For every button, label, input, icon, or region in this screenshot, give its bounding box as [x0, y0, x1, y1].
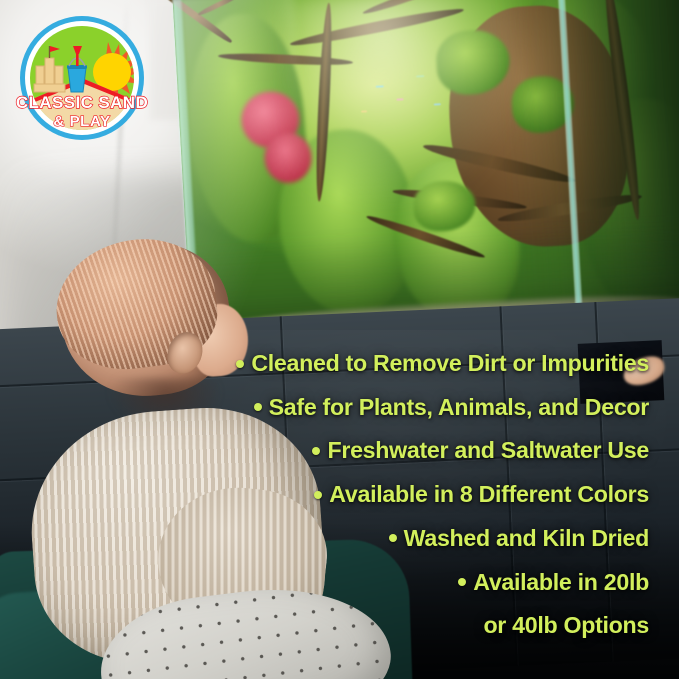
tank-light-glow: [287, 0, 533, 210]
feature-text: Safe for Plants, Animals, and Decor: [269, 396, 649, 419]
feature-item: Cleaned to Remove Dirt or Impurities: [236, 352, 649, 375]
feature-text: Freshwater and Saltwater Use: [327, 439, 649, 462]
feature-item: Available in 8 Different Colors: [314, 483, 649, 506]
feature-text: Cleaned to Remove Dirt or Impurities: [251, 352, 649, 375]
bullet-dot-icon: [312, 447, 320, 455]
feature-list: Cleaned to Remove Dirt or Impurities Saf…: [0, 352, 679, 662]
feature-text: Available in 8 Different Colors: [329, 483, 649, 506]
feature-item: Safe for Plants, Animals, and Decor: [254, 396, 649, 419]
bullet-dot-icon: [236, 360, 244, 368]
feature-text: Washed and Kiln Dried: [404, 527, 649, 550]
bullet-dot-icon: [254, 403, 262, 411]
feature-item-continuation: or 40lb Options: [483, 614, 649, 637]
feature-item: Washed and Kiln Dried: [389, 527, 649, 550]
logo-text-line2: & PLAY: [53, 113, 110, 130]
classic-sand-and-play-logo: CLASSIC SAND & PLAY: [12, 14, 152, 142]
feature-text: Available in 20lb: [473, 571, 649, 594]
product-feature-image: CLASSIC SAND & PLAY Cleaned to Remove Di…: [0, 0, 679, 679]
logo-text-line1: CLASSIC SAND: [16, 93, 148, 112]
feature-item: Available in 20lb: [458, 571, 649, 594]
bullet-dot-icon: [458, 578, 466, 586]
bullet-dot-icon: [389, 534, 397, 542]
feature-item: Freshwater and Saltwater Use: [312, 439, 649, 462]
bullet-dot-icon: [314, 491, 322, 499]
feature-text: or 40lb Options: [483, 614, 649, 637]
